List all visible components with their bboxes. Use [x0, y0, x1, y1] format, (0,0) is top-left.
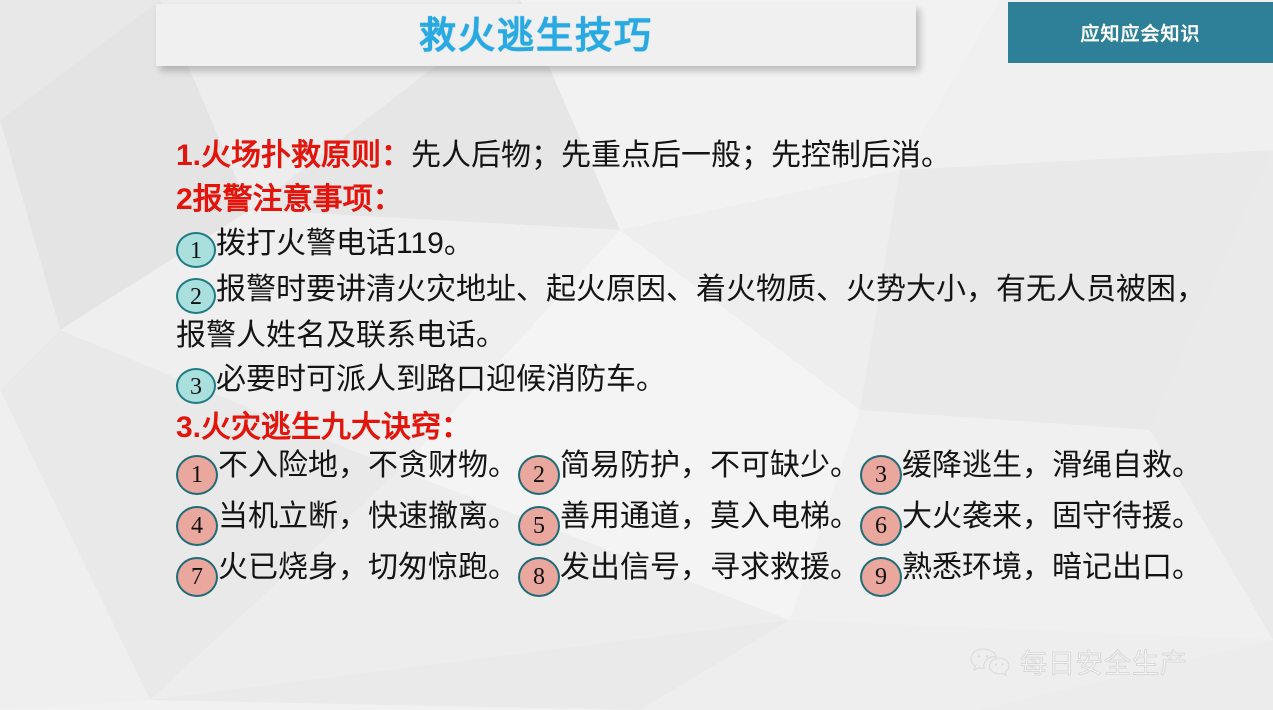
marker-circle-6: 6	[860, 506, 902, 546]
marker-circle-2: 2	[518, 455, 560, 495]
tip-text-8: 发出信号，寻求救援。	[560, 551, 860, 584]
marker-circle-3: 3	[860, 455, 902, 495]
section3-heading: 3.火灾逃生九大诀窍：	[176, 411, 471, 444]
section1-line: 1.火场扑救原则：先人后物；先重点后一般；先控制后消。	[176, 134, 1216, 178]
slide-canvas: 救火逃生技巧 应知应会知识 1.火场扑救原则：先人后物；先重点后一般；先控制后消…	[0, 0, 1273, 710]
watermark-label: 每日安全生产	[1020, 642, 1188, 681]
marker-circle-9: 9	[860, 557, 902, 597]
tip-text-9: 熟悉环境，暗记出口。	[902, 551, 1202, 584]
list-item-text: 报警时要讲清火灾地址、起火原因、着火物质、火势大小，有无人员被困，报警人姓名及联…	[176, 273, 1206, 352]
list-item: 1拨打火警电话119。	[176, 222, 1216, 268]
marker-circle-1: 1	[176, 455, 218, 495]
marker-circle-3: 3	[176, 368, 216, 404]
marker-circle-2: 2	[176, 278, 216, 314]
marker-circle-8: 8	[518, 557, 560, 597]
tip-text-1: 不入险地，不贪财物。	[218, 449, 518, 482]
section2-heading-line: 2报警注意事项：	[176, 178, 1216, 222]
section1-heading: 1.火场扑救原则：	[176, 139, 411, 172]
marker-circle-7: 7	[176, 557, 218, 597]
section1-body: 先人后物；先重点后一般；先控制后消。	[411, 139, 951, 172]
list-item-text: 拨打火警电话119。	[216, 227, 474, 260]
content-body: 1.火场扑救原则：先人后物；先重点后一般；先控制后消。 2报警注意事项： 1拨打…	[176, 134, 1216, 450]
tip-text-7: 火已烧身，切匆惊跑。	[218, 551, 518, 584]
marker-circle-1: 1	[176, 232, 216, 268]
marker-circle-4: 4	[176, 506, 218, 546]
wechat-icon	[968, 646, 1012, 678]
list-item-text: 必要时可派人到路口迎候消防车。	[216, 363, 666, 396]
tip-text-4: 当机立断，快速撤离。	[218, 500, 518, 533]
list-item: 2报警时要讲清火灾地址、起火原因、着火物质、火势大小，有无人员被困，报警人姓名及…	[176, 268, 1216, 358]
slide-title-box: 救火逃生技巧	[156, 4, 916, 66]
watermark: 每日安全生产	[968, 642, 1188, 681]
tip-text-3: 缓降逃生，滑绳自救。	[902, 449, 1202, 482]
tip-text-2: 简易防护，不可缺少。	[560, 449, 860, 482]
section2-heading: 2报警注意事项：	[176, 183, 403, 216]
section3-paragraph: 1不入险地，不贪财物。2简易防护，不可缺少。3缓降逃生，滑绳自救。4当机立断，快…	[176, 444, 1224, 597]
marker-circle-5: 5	[518, 506, 560, 546]
list-item: 3必要时可派人到路口迎候消防车。	[176, 358, 1216, 404]
page-title: 救火逃生技巧	[419, 17, 653, 54]
category-badge-label: 应知应会知识	[1080, 19, 1200, 46]
category-badge: 应知应会知识	[1008, 2, 1273, 63]
tip-text-6: 大火袭来，固守待援。	[902, 500, 1202, 533]
tip-text-5: 善用通道，莫入电梯。	[560, 500, 860, 533]
